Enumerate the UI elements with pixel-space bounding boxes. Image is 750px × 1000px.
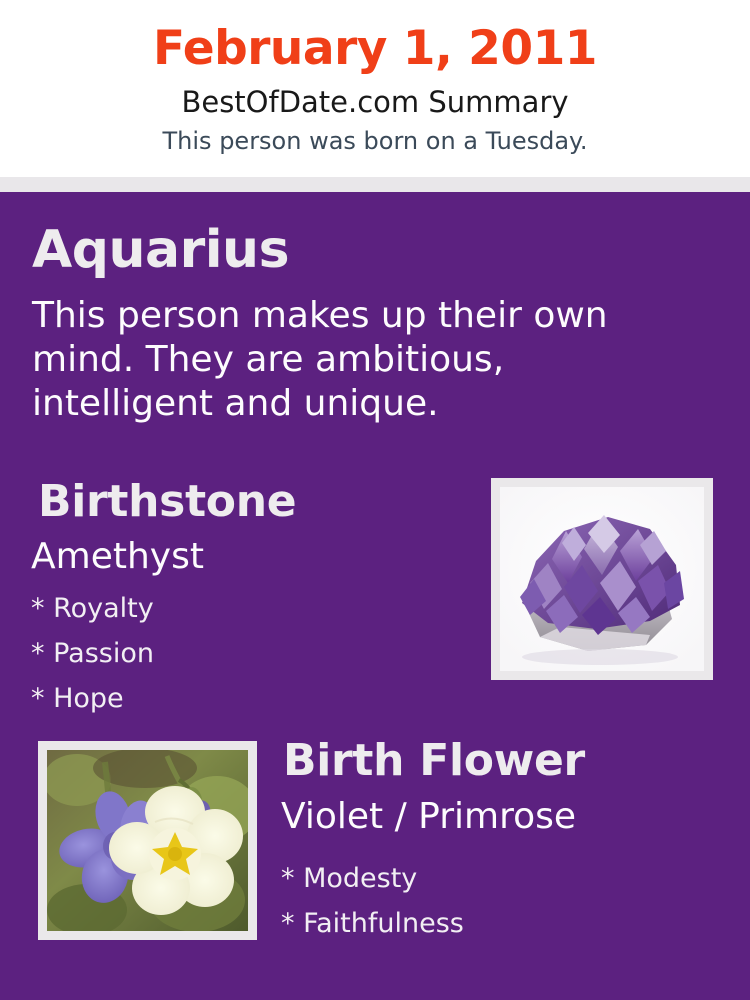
list-item: * Passion (31, 631, 154, 676)
list-item: * Royalty (31, 586, 154, 631)
page-header: February 1, 2011 BestOfDate.com Summary … (0, 0, 750, 177)
list-item: * Modesty (281, 856, 464, 901)
birthstone-name: Amethyst (31, 537, 204, 577)
birthstone-photo (500, 487, 704, 671)
birthstone-photo-frame (491, 478, 713, 680)
born-weekday-text: This person was born on a Tuesday. (0, 127, 750, 156)
page-title-date: February 1, 2011 (0, 22, 750, 76)
birthstone-heading: Birthstone (38, 478, 296, 526)
header-divider (0, 177, 750, 192)
zodiac-sign-heading: Aquarius (32, 222, 289, 279)
list-item: * Hope (31, 676, 154, 721)
amethyst-crystal-icon (500, 487, 704, 671)
birth-flower-name: Violet / Primrose (281, 797, 576, 837)
summary-page: February 1, 2011 BestOfDate.com Summary … (0, 0, 750, 1000)
birth-flower-photo-frame (38, 741, 257, 940)
site-summary-subtitle: BestOfDate.com Summary (0, 85, 750, 120)
violet-primrose-flower-icon (47, 750, 248, 931)
birthstone-trait-list: * Royalty * Passion * Hope (31, 586, 154, 721)
birth-flower-heading: Birth Flower (283, 737, 585, 785)
birth-flower-photo (47, 750, 248, 931)
birth-flower-trait-list: * Modesty * Faithfulness (281, 856, 464, 946)
list-item: * Faithfulness (281, 901, 464, 946)
zodiac-description: This person makes up their own mind. The… (32, 294, 682, 426)
